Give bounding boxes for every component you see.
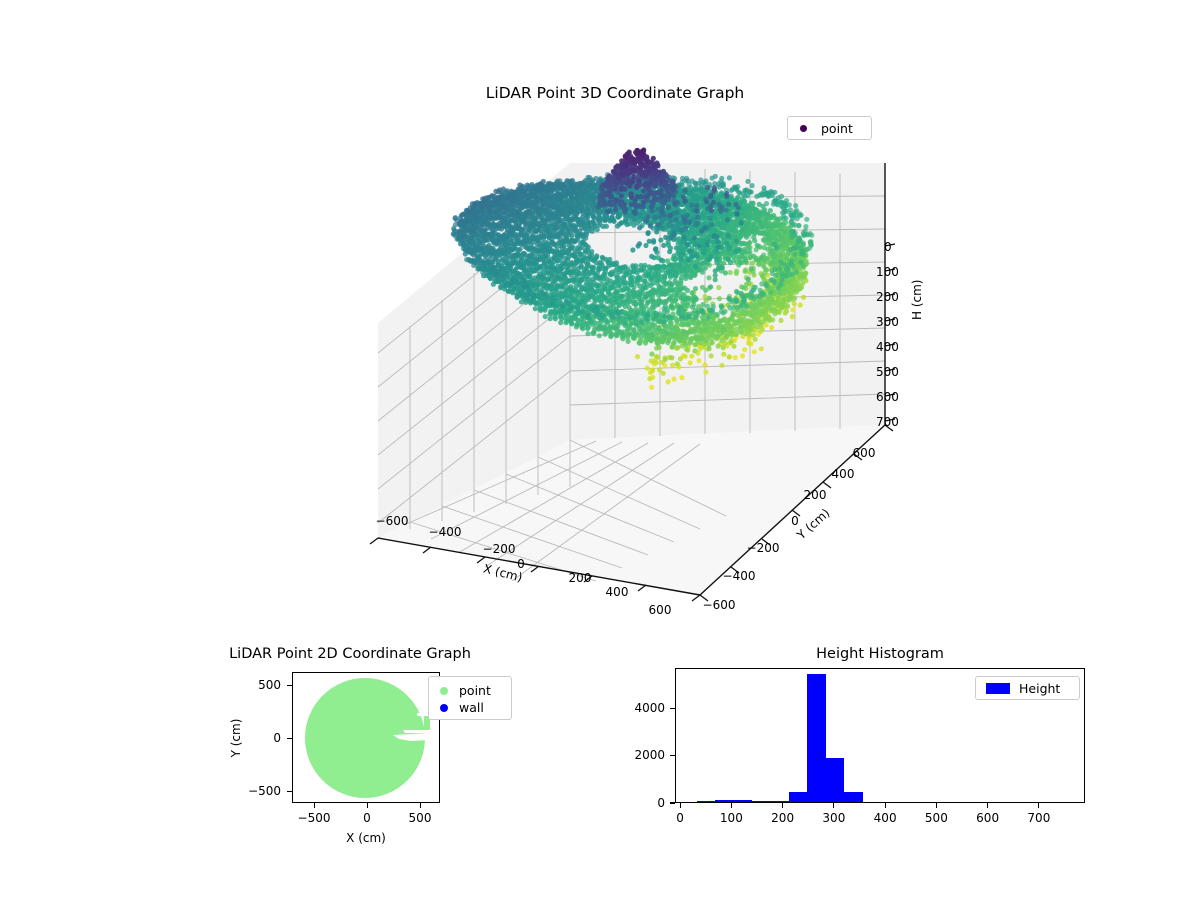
- x-tick-label-5: 400: [606, 585, 629, 599]
- y-tick-label-2: −200: [747, 541, 780, 555]
- x-tick-label-hist-2: 200: [771, 811, 794, 825]
- histogram-bar: [715, 800, 733, 802]
- legend-label-point-3d: point: [821, 121, 853, 136]
- histogram-bar: [770, 801, 788, 802]
- x-tickmark-hist-6: [987, 803, 988, 808]
- x-tick-label-6: 600: [649, 603, 672, 617]
- histogram-bar: [807, 674, 825, 802]
- histogram-bar: [844, 792, 862, 802]
- y-tickmark-hist-1: [670, 755, 675, 756]
- z-tick-label-7: 700: [876, 415, 899, 429]
- z-tick-label-3: 300: [876, 315, 899, 329]
- legend-label-height: Height: [1019, 681, 1060, 696]
- legend-marker-point-3d: [800, 125, 807, 132]
- y-tickmark-2: [287, 791, 292, 792]
- z-tick-label-5: 500: [876, 365, 899, 379]
- histogram-bar: [733, 800, 751, 802]
- point-series-2d: [305, 678, 430, 798]
- y-tickmark-hist-2: [670, 708, 675, 709]
- histogram-bar: [697, 801, 715, 802]
- x-tick-label-4: 200: [569, 571, 592, 585]
- scatter3d-axes[interactable]: [300, 140, 920, 640]
- matplotlib-figure: LiDAR Point 3D Coordinate Graph point: [0, 0, 1200, 900]
- scatter2d-title: LiDAR Point 2D Coordinate Graph: [229, 646, 471, 662]
- y-axis-label-2d: Y (cm): [229, 719, 243, 758]
- x-tick-label-hist-3: 300: [822, 811, 845, 825]
- y-tick-label-3: 0: [791, 514, 799, 528]
- y-tick-label-2d-2: −500: [248, 784, 281, 798]
- histogram-legend: Height: [975, 676, 1080, 700]
- legend-row-point: point: [436, 682, 504, 699]
- histogram-bar: [752, 801, 770, 802]
- x-axis-label-2d: X (cm): [346, 831, 386, 845]
- x-tickmark-2d-2: [420, 803, 421, 808]
- histogram-bar: [789, 792, 807, 802]
- x-tick-label-2d-1: 0: [363, 811, 371, 825]
- scatter2d-legend: point wall: [428, 676, 512, 720]
- legend-marker-wall-2d: [440, 704, 448, 712]
- y-tick-label-hist-0: 0: [657, 796, 665, 810]
- y-tick-label-6: 600: [853, 446, 876, 460]
- x-tick-label-2d-0: −500: [298, 811, 331, 825]
- y-tick-label-hist-1: 2000: [634, 748, 665, 762]
- x-tickmark-2d-0: [314, 803, 315, 808]
- legend-label-wall-2d: wall: [459, 700, 484, 715]
- x-tickmark-hist-4: [885, 803, 886, 808]
- y-tick-label-2d-1: 0: [273, 731, 281, 745]
- legend-label-point-2d: point: [459, 683, 491, 698]
- y-tickmark-0: [287, 685, 292, 686]
- y-tick-label-2d-0: 500: [258, 678, 281, 692]
- z-tick-label-0: 0: [884, 240, 892, 254]
- histogram-bar: [826, 758, 844, 802]
- legend-row-wall: wall: [436, 699, 504, 716]
- x-tick-label-hist-6: 600: [976, 811, 999, 825]
- x-tick-label-hist-5: 500: [925, 811, 948, 825]
- scatter2d-canvas: [293, 673, 440, 803]
- scatter3d-title: LiDAR Point 3D Coordinate Graph: [486, 84, 744, 102]
- z-tick-label-4: 400: [876, 340, 899, 354]
- x-tickmark-2d-1: [367, 803, 368, 808]
- y-tick-label-5: 400: [832, 467, 855, 481]
- x-tickmark-hist-3: [833, 803, 834, 808]
- y-tick-label-1: −400: [723, 569, 756, 583]
- x-tickmark-hist-5: [936, 803, 937, 808]
- legend-marker-point-2d: [440, 687, 448, 695]
- x-tick-label-2: −200: [483, 542, 516, 556]
- scatter3d-canvas: [300, 140, 920, 640]
- z-tick-label-1: 100: [876, 265, 899, 279]
- x-tickmark-hist-7: [1038, 803, 1039, 808]
- scatter3d-legend: point: [787, 116, 872, 140]
- y-tick-label-4: 200: [804, 488, 827, 502]
- z-tick-label-6: 600: [876, 390, 899, 404]
- scatter2d-axes[interactable]: [292, 672, 440, 803]
- x-tick-label-hist-0: 0: [676, 811, 684, 825]
- y-tick-label-hist-2: 4000: [634, 701, 665, 715]
- x-tickmark-hist-0: [680, 803, 681, 808]
- x-tick-label-hist-1: 100: [720, 811, 743, 825]
- x-tick-label-hist-7: 700: [1027, 811, 1050, 825]
- histogram-title: Height Histogram: [816, 646, 944, 662]
- z-tick-label-2: 200: [876, 290, 899, 304]
- legend-marker-height: [986, 683, 1010, 694]
- x-tick-label-hist-4: 400: [874, 811, 897, 825]
- x-tickmark-hist-2: [782, 803, 783, 808]
- x-tick-label-2d-2: 500: [409, 811, 432, 825]
- x-tick-label-1: −400: [429, 525, 462, 539]
- z-axis-label: H (cm): [910, 280, 924, 321]
- y-tickmark-1: [287, 738, 292, 739]
- y-tick-label-0: −600: [703, 598, 736, 612]
- x-tick-label-0: −600: [376, 514, 409, 528]
- y-tickmark-hist-0: [670, 802, 675, 803]
- x-tickmark-hist-1: [731, 803, 732, 808]
